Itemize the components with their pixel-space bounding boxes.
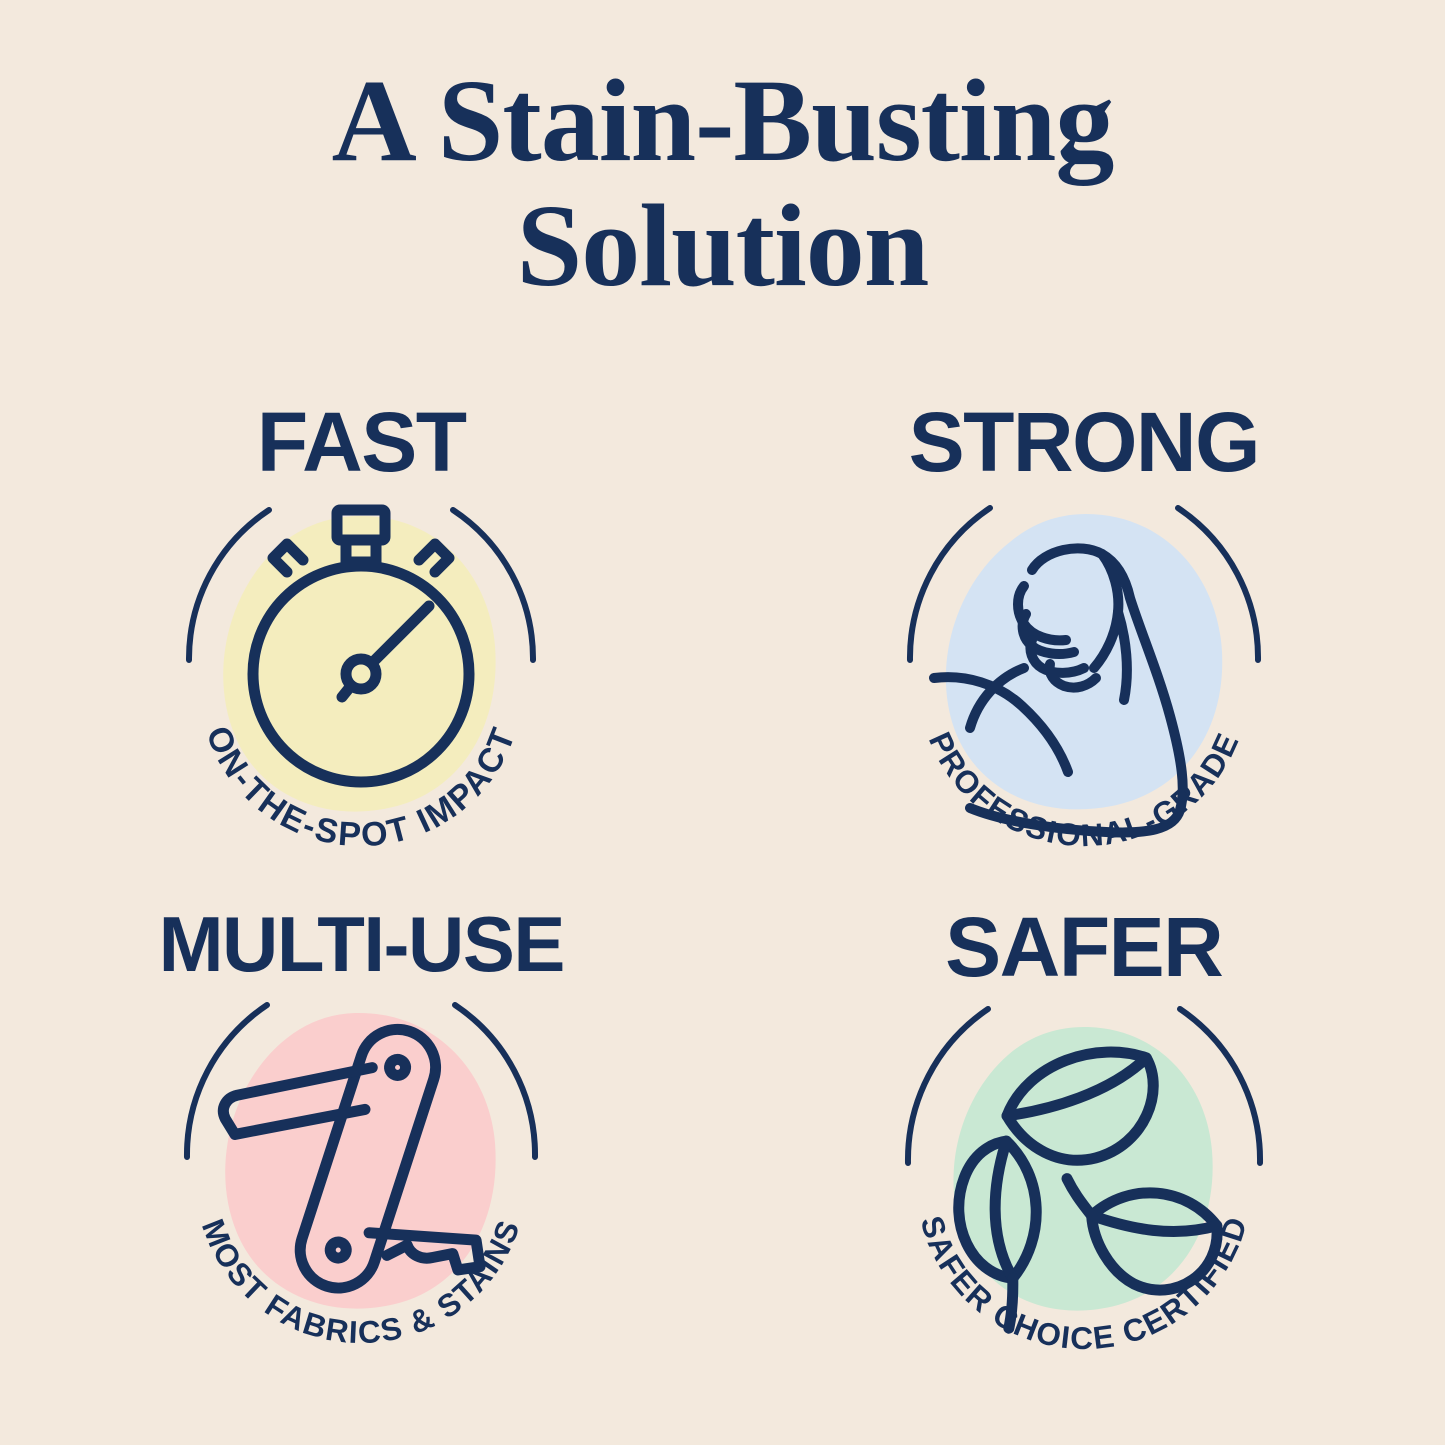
badge-heading-fast: FAST (257, 400, 466, 484)
benefit-badge-strong: STRONG (723, 400, 1445, 905)
page-title: A Stain-Busting Solution (0, 58, 1445, 308)
badge-art-fast: ON-THE-SPOT IMPACT (151, 488, 571, 888)
benefit-badge-safer: SAFER (723, 905, 1445, 1410)
page-title-line-1: A Stain-Busting (0, 58, 1445, 183)
benefit-badge-grid: FAST (0, 400, 1445, 1410)
benefit-badge-multi-use: MULTI-USE (0, 905, 723, 1410)
badge-art-safer: SAFER CHOICE CERTIFIED (874, 993, 1294, 1393)
badge-art-strong: PROFESSIONAL-GRADE (874, 488, 1294, 888)
page-title-line-2: Solution (0, 183, 1445, 308)
badge-heading-safer: SAFER (945, 905, 1222, 989)
badge-heading-strong: STRONG (909, 400, 1259, 484)
badge-heading-multi-use: MULTI-USE (159, 905, 564, 983)
badge-art-multi-use: MOST FABRICS & STAINS (151, 987, 571, 1387)
benefit-badge-fast: FAST (0, 400, 723, 905)
product-benefits-graphic: A Stain-Busting Solution FAST (0, 0, 1445, 1445)
